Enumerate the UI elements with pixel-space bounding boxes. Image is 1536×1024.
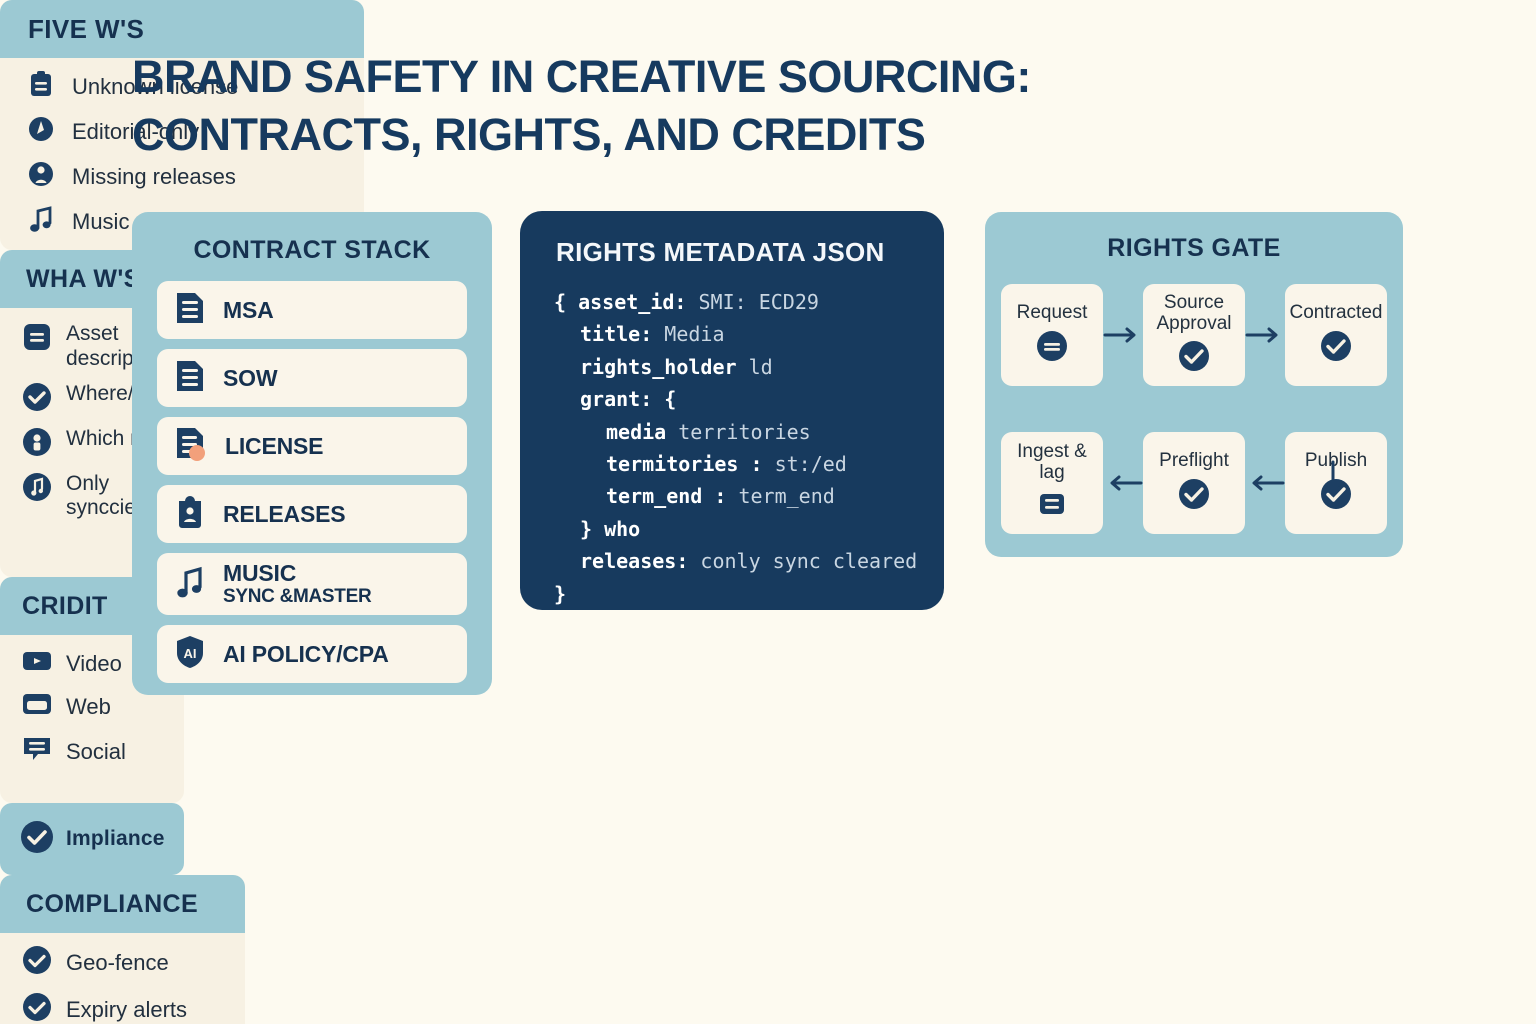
contract-item-label: MSA xyxy=(223,297,274,324)
json-panel-heading: Rights Metadata JSON xyxy=(556,237,944,268)
music-circle-icon xyxy=(22,472,52,507)
five-ws-heading: Five W's xyxy=(28,14,144,45)
gate-step-ingest-lag[interactable]: Ingest & lag xyxy=(1001,432,1103,534)
list-item-label: Expiry alerts xyxy=(66,997,187,1023)
contract-stack-panel: Contract Stack MSA SOW LICENSE xyxy=(132,212,492,695)
contract-item-label: AI POLICY/CPA xyxy=(223,641,389,668)
what-ws-heading: Wha W's xyxy=(26,265,141,294)
list-item-label: Video xyxy=(66,651,122,677)
rights-gate-flow: Request Source Approval xyxy=(1001,284,1387,534)
compliance-header: Compliance xyxy=(0,875,245,933)
rights-gate-panel: Rights Gate Request Source Approval xyxy=(985,212,1403,557)
gate-step-label: Contracted xyxy=(1290,303,1383,324)
list-item[interactable]: Expiry alerts xyxy=(0,992,245,1024)
list-item[interactable]: Geo-fence xyxy=(0,945,245,980)
clock-icon xyxy=(28,115,54,148)
check-circle-icon xyxy=(22,992,52,1024)
video-play-icon xyxy=(22,649,52,678)
contract-item-sow[interactable]: SOW xyxy=(157,349,467,407)
flow-arrow-right-icon xyxy=(1103,326,1143,344)
infographic-canvas: Brand Safety in Creative Sourcing: Contr… xyxy=(0,0,1536,1024)
contract-stack-heading: Contract Stack xyxy=(132,236,492,265)
contract-item-label: RELEASES xyxy=(223,501,345,528)
chat-bubble-icon xyxy=(22,735,52,768)
gate-step-label: Request xyxy=(1017,303,1088,324)
contract-stack-list: MSA SOW LICENSE RELEASES xyxy=(157,281,467,683)
json-line: grant: { xyxy=(554,383,944,415)
json-code-block: { asset_id: SMI: ECD29 title: Media righ… xyxy=(554,286,944,610)
contract-item-label-sub: SYNC &MASTER xyxy=(223,586,371,608)
json-line: { asset_id: SMI: ECD29 xyxy=(554,290,819,314)
list-square-icon xyxy=(22,322,52,357)
document-icon xyxy=(175,359,205,398)
check-circle-icon xyxy=(1178,340,1210,377)
json-line: } who xyxy=(554,513,944,545)
music-note-icon xyxy=(175,565,205,604)
title-line-2: Contracts, Rights, and Credits xyxy=(132,106,1332,164)
contract-item-music[interactable]: MUSIC SYNC &MASTER xyxy=(157,553,467,615)
check-circle-icon xyxy=(22,945,52,980)
gate-step-label: Ingest & lag xyxy=(1005,442,1099,484)
json-value: ld xyxy=(749,355,773,379)
json-line: term_end : term_end xyxy=(554,480,944,512)
svg-text:AI: AI xyxy=(184,646,197,661)
json-key: grant: { xyxy=(580,387,676,411)
list-item-label: Web xyxy=(66,694,111,720)
browser-icon xyxy=(22,692,52,721)
json-line: } xyxy=(554,582,566,606)
impliance-badge[interactable]: Impliance xyxy=(0,803,184,875)
list-item-label: Missing releases xyxy=(72,164,236,190)
list-item-label: Geo-fence xyxy=(66,950,169,976)
gate-step-preflight[interactable]: Preflight xyxy=(1143,432,1245,534)
json-key: term_end : xyxy=(606,484,726,508)
credit-center-heading: Cridit xyxy=(22,592,108,621)
list-item[interactable]: Social xyxy=(22,735,184,768)
check-circle-icon xyxy=(22,382,52,417)
json-key: } who xyxy=(580,517,640,541)
page-title: Brand Safety in Creative Sourcing: Contr… xyxy=(132,48,1332,163)
equals-circle-icon xyxy=(1036,330,1068,367)
flow-arrow-left-icon xyxy=(1245,474,1285,492)
gate-step-label: Preflight xyxy=(1159,451,1229,472)
json-value: st:/ed xyxy=(775,452,847,476)
document-icon xyxy=(175,291,205,330)
server-icon xyxy=(1037,489,1067,524)
gate-step-request[interactable]: Request xyxy=(1001,284,1103,386)
rights-metadata-json-panel: Rights Metadata JSON { asset_id: SMI: EC… xyxy=(520,211,944,610)
contract-item-license[interactable]: LICENSE xyxy=(157,417,467,475)
contract-item-ai-policy[interactable]: AI AI POLICY/CPA xyxy=(157,625,467,683)
contract-item-label: SOW xyxy=(223,365,277,392)
json-key: } xyxy=(554,582,566,606)
title-line-1: Brand Safety in Creative Sourcing: xyxy=(132,51,1031,102)
contract-item-msa[interactable]: MSA xyxy=(157,281,467,339)
contract-item-label-main: MUSIC xyxy=(223,560,296,586)
json-value: SMI: ECD29 xyxy=(699,290,819,314)
gate-step-contracted[interactable]: Contracted xyxy=(1285,284,1387,386)
json-value: conly sync cleared xyxy=(700,549,917,573)
flow-arrow-right-icon xyxy=(1245,326,1285,344)
music-note-icon xyxy=(28,205,54,238)
list-item[interactable]: Missing releases xyxy=(28,160,364,193)
ai-shield-icon: AI xyxy=(175,635,205,674)
person-badge-icon xyxy=(175,495,205,534)
json-key: media xyxy=(606,420,666,444)
json-value: Media xyxy=(664,322,724,346)
gate-step-label: Source Approval xyxy=(1147,293,1241,335)
check-circle-icon xyxy=(1320,330,1352,367)
document-dot-icon xyxy=(175,426,207,467)
compliance-heading: Compliance xyxy=(26,890,198,919)
json-key: termitories : xyxy=(606,452,763,476)
json-key: title: xyxy=(580,322,652,346)
json-value: term_end xyxy=(738,484,834,508)
json-line: title: Media xyxy=(554,318,944,350)
list-item-label: Social xyxy=(66,739,126,765)
list-item[interactable]: Web xyxy=(22,692,184,721)
json-line: rights_holder ld xyxy=(554,351,944,383)
json-line: media territories xyxy=(554,416,944,448)
impliance-label: Impliance xyxy=(66,827,165,851)
json-key: releases: xyxy=(580,549,688,573)
json-line: termitories : st:/ed xyxy=(554,448,944,480)
person-circle-icon xyxy=(28,160,54,193)
contract-item-label: MUSIC SYNC &MASTER xyxy=(223,560,371,608)
clipboard-icon xyxy=(28,70,54,103)
check-circle-icon xyxy=(20,820,54,859)
json-key: rights_holder xyxy=(580,355,737,379)
flow-arrow-left-icon xyxy=(1103,474,1143,492)
gate-step-source-approval[interactable]: Source Approval xyxy=(1143,284,1245,386)
compliance-panel: Compliance Geo-fence Expiry alerts T-30 … xyxy=(0,875,245,1024)
json-value: territories xyxy=(678,420,810,444)
check-circle-icon xyxy=(1178,478,1210,515)
flow-arrow-down-icon xyxy=(1324,460,1342,509)
contract-item-releases[interactable]: RELEASES xyxy=(157,485,467,543)
person-circle-icon xyxy=(22,427,52,462)
json-key: { asset_id: xyxy=(554,290,686,314)
rights-gate-row-1: Request Source Approval xyxy=(1001,284,1387,386)
contract-item-label: LICENSE xyxy=(225,433,323,460)
json-line: releases: conly sync cleared xyxy=(554,545,944,577)
rights-gate-heading: Rights Gate xyxy=(985,234,1403,263)
